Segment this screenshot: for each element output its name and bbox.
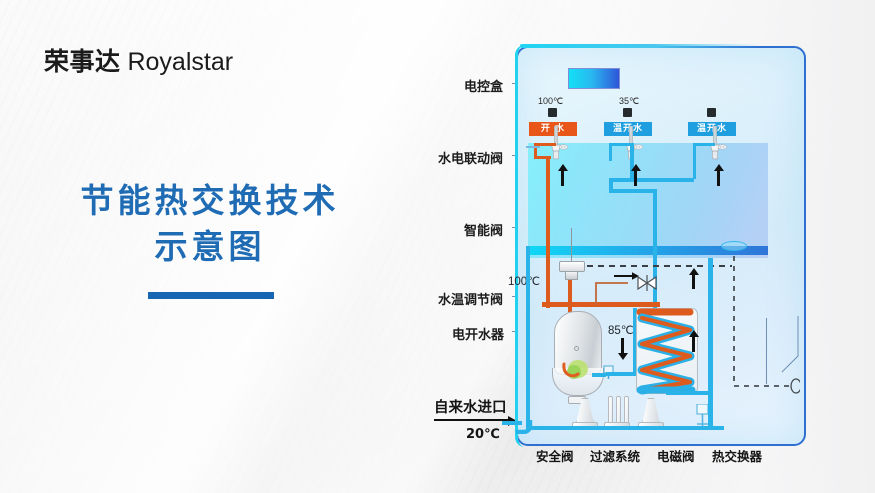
boiler-indicator-dot	[574, 346, 579, 351]
label-water-inlet: 自来水进口	[434, 396, 507, 417]
tap-1-temperature: 100℃	[538, 96, 563, 107]
pipe-inlet-feed	[502, 421, 522, 425]
pipe-hx-riser-upper	[708, 258, 713, 312]
inlet-arrow-icon	[434, 419, 510, 421]
tap-3-led-icon	[707, 108, 716, 117]
label-heat-exchanger: 热交换器	[712, 446, 762, 465]
pipe-bottom-manifold	[526, 426, 724, 430]
arrow-tap3-head-icon	[714, 164, 724, 171]
smart-valve-unit[interactable]	[559, 261, 585, 272]
brand-logo: 荣事达 Royalstar	[44, 42, 233, 78]
arrow-hx-riser-stem-icon	[692, 336, 695, 352]
arrow-return-stem-icon	[692, 274, 695, 289]
arrow-tap1-head-icon	[558, 164, 568, 171]
arrow-tap3-stem-icon	[717, 170, 720, 186]
sink-basin-icon	[721, 241, 747, 251]
arrow-tap2-head-icon	[631, 164, 641, 171]
arrow-85-stem-icon	[621, 338, 624, 354]
cabinet-left-glow	[515, 45, 525, 447]
brand-name-en: Royalstar	[127, 48, 233, 76]
check-valve-icon	[592, 271, 664, 305]
smart-valve-stem	[571, 228, 572, 261]
pipe-hot-to-boiler	[568, 280, 572, 312]
pipe-hot-riser-foot	[546, 280, 550, 306]
label-solenoid-valve: 电磁阀	[657, 446, 695, 465]
label-temp-valve: 水温调节阀	[438, 289, 503, 308]
pipe-hx-outlet	[666, 391, 712, 395]
label-smart-valve: 智能阀	[464, 220, 503, 239]
arrow-hx-riser-head-icon	[689, 330, 699, 337]
control-box-unit	[568, 68, 620, 89]
label-inlet-temperature: 20℃	[466, 427, 500, 442]
label-control-box: 电控盒	[464, 76, 503, 95]
tap-1-led-icon	[548, 108, 557, 117]
pipe-tap2-elbow	[609, 143, 612, 161]
pipe-left-vertical	[526, 246, 530, 350]
pipe-bottom-to-hx	[708, 392, 713, 428]
title-underline-bar	[148, 292, 274, 299]
label-link-valve: 水电联动阀	[438, 148, 503, 167]
arrow-return-head-icon	[689, 268, 699, 275]
system-diagram: 100℃ 开 水 35℃ 温开水 温开水	[516, 46, 806, 446]
page-title: 节能热交换技术 示意图	[0, 178, 420, 270]
smart-valve-neck	[565, 272, 578, 280]
arrow-tap2-stem-icon	[634, 170, 637, 186]
label-filter-system: 过滤系统	[590, 446, 640, 465]
pipe-counter-left-tick	[526, 146, 540, 148]
brand-name-cn: 荣事达	[44, 47, 121, 76]
label-safety-valve: 安全阀	[536, 446, 574, 465]
title-line-2: 示意图	[0, 224, 420, 270]
pipe-warm-manifold	[609, 178, 694, 182]
pipe-tap3-elbow	[693, 143, 696, 179]
pipe-warm-manifold-lower	[609, 189, 657, 193]
tap-2-temperature: 35℃	[619, 96, 639, 107]
label-pipe-temp-100: 100℃	[508, 274, 540, 288]
title-line-1: 节能热交换技术	[0, 178, 420, 224]
pipe-hot-riser-top	[534, 156, 551, 159]
pipe-hx-riser	[708, 308, 713, 394]
label-electric-boiler: 电开水器	[452, 324, 504, 343]
arrow-85-head-icon	[618, 353, 628, 360]
arrow-tap1-stem-icon	[561, 170, 564, 186]
leader-drain-elbow	[762, 316, 802, 390]
cabinet-top-glow	[520, 44, 760, 48]
label-pipe-temp-85: 85℃	[608, 323, 634, 337]
pipe-hx-to-boiler-foot	[606, 372, 636, 376]
heating-element-icon	[562, 358, 592, 384]
tap-2-led-icon	[623, 108, 632, 117]
